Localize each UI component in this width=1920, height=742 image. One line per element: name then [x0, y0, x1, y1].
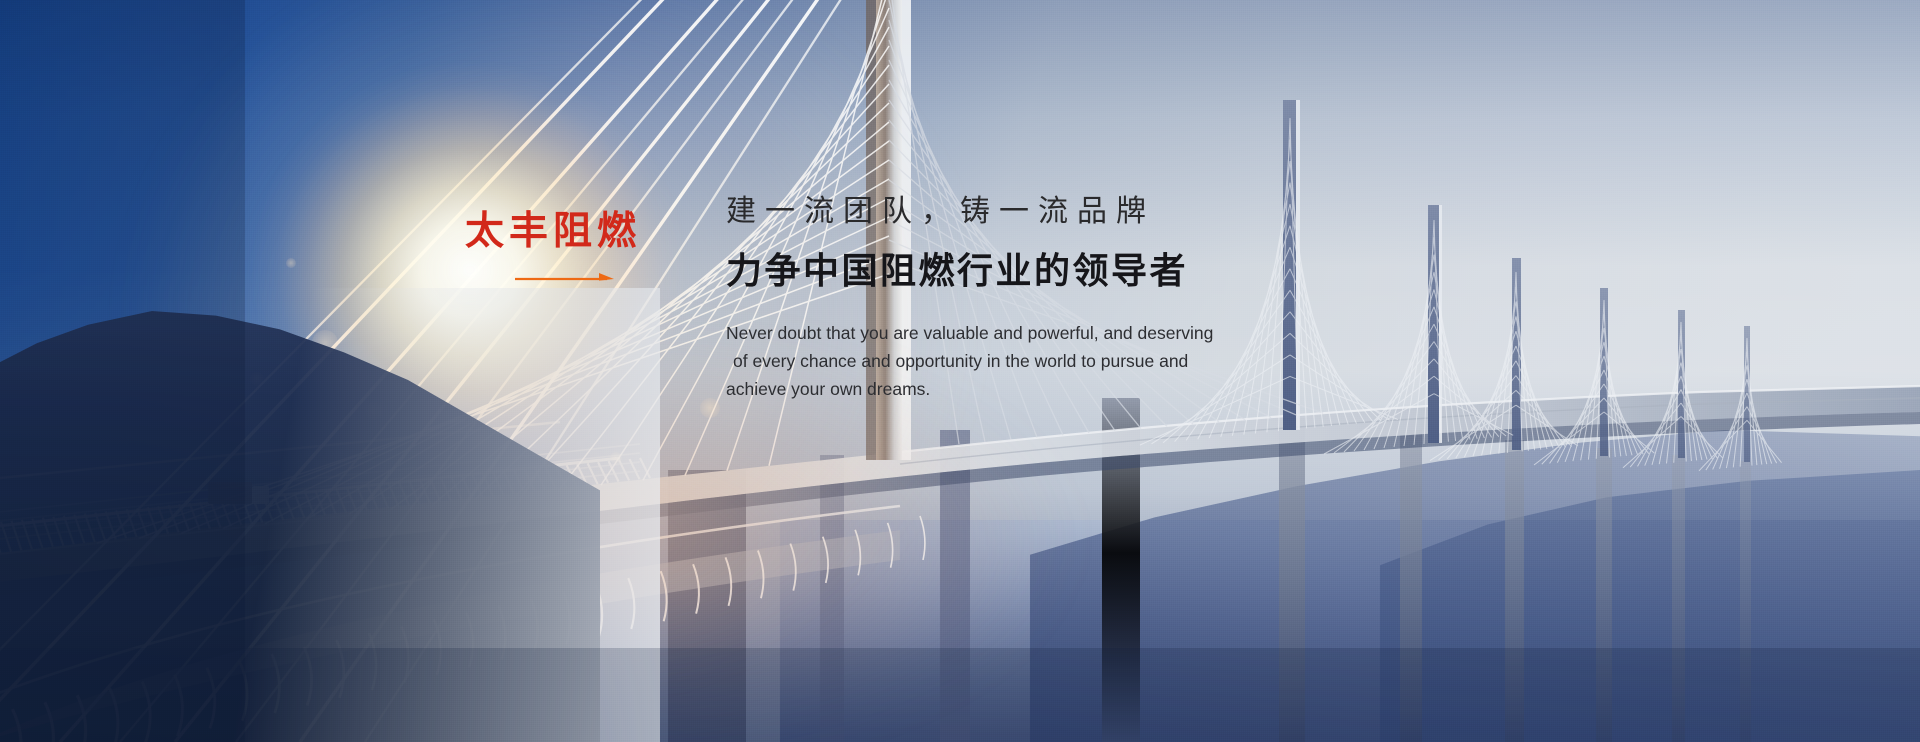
- subcopy-line-2: of every chance and opportunity in the w…: [726, 347, 1291, 375]
- headline-block: 建一流团队，铸一流品牌 力争中国阻燃行业的领导者 Never doubt tha…: [726, 193, 1346, 404]
- subcopy-line-1: Never doubt that you are valuable and po…: [726, 319, 1291, 347]
- headline-primary: 建一流团队，铸一流品牌: [726, 193, 1346, 231]
- subcopy-paragraph: Never doubt that you are valuable and po…: [726, 319, 1291, 404]
- subcopy-line-3: achieve your own dreams.: [726, 375, 1291, 403]
- headline-secondary: 力争中国阻燃行业的领导者: [726, 250, 1346, 293]
- arrow-right-icon: [515, 271, 615, 285]
- brand-logo[interactable]: 太丰阻燃: [465, 212, 665, 285]
- brand-wordmark: 太丰阻燃: [465, 212, 665, 251]
- banner-content: 太丰阻燃 建一流团队，铸一流品牌 力争中国阻燃行业的领导者 Never doub…: [0, 0, 1920, 742]
- hero-banner: 太丰阻燃 建一流团队，铸一流品牌 力争中国阻燃行业的领导者 Never doub…: [0, 0, 1920, 742]
